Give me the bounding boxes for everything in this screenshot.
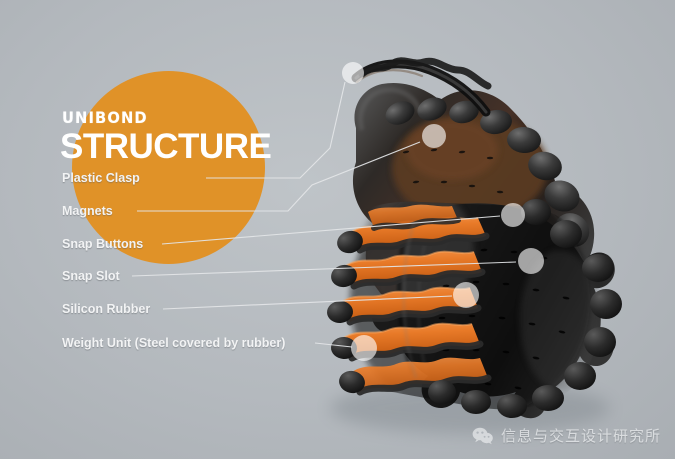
callout-label-weight-unit[interactable]: Weight Unit (Steel covered by rubber) bbox=[62, 337, 285, 350]
watermark: 信息与交互设计研究所 bbox=[472, 427, 661, 445]
callout-dot-weight-unit[interactable] bbox=[351, 335, 377, 361]
wechat-icon bbox=[472, 427, 494, 445]
leader-line-plastic-clasp bbox=[206, 82, 345, 178]
callout-label-plastic-clasp[interactable]: Plastic Clasp bbox=[62, 172, 140, 185]
poster-canvas: UNIBOND STRUCTURE Plastic ClaspMagnetsSn… bbox=[0, 0, 675, 459]
leader-line-magnets bbox=[137, 142, 420, 211]
callout-label-snap-buttons[interactable]: Snap Buttons bbox=[62, 238, 143, 251]
callout-label-silicon-rubber[interactable]: Silicon Rubber bbox=[62, 303, 150, 316]
callout-dot-silicon-rubber[interactable] bbox=[453, 282, 479, 308]
callout-dot-snap-buttons[interactable] bbox=[501, 203, 525, 227]
callout-dot-magnets[interactable] bbox=[422, 124, 446, 148]
leader-line-snap-buttons bbox=[162, 216, 500, 244]
leader-line-snap-slot bbox=[132, 262, 516, 276]
watermark-text: 信息与交互设计研究所 bbox=[501, 429, 661, 444]
callout-dot-snap-slot[interactable] bbox=[518, 248, 544, 274]
callout-label-magnets[interactable]: Magnets bbox=[62, 205, 113, 218]
callout-leader-lines bbox=[0, 0, 675, 459]
callout-label-snap-slot[interactable]: Snap Slot bbox=[62, 270, 120, 283]
leader-line-weight-unit bbox=[315, 343, 352, 347]
callout-dot-plastic-clasp[interactable] bbox=[342, 62, 364, 84]
leader-line-silicon-rubber bbox=[163, 296, 452, 309]
